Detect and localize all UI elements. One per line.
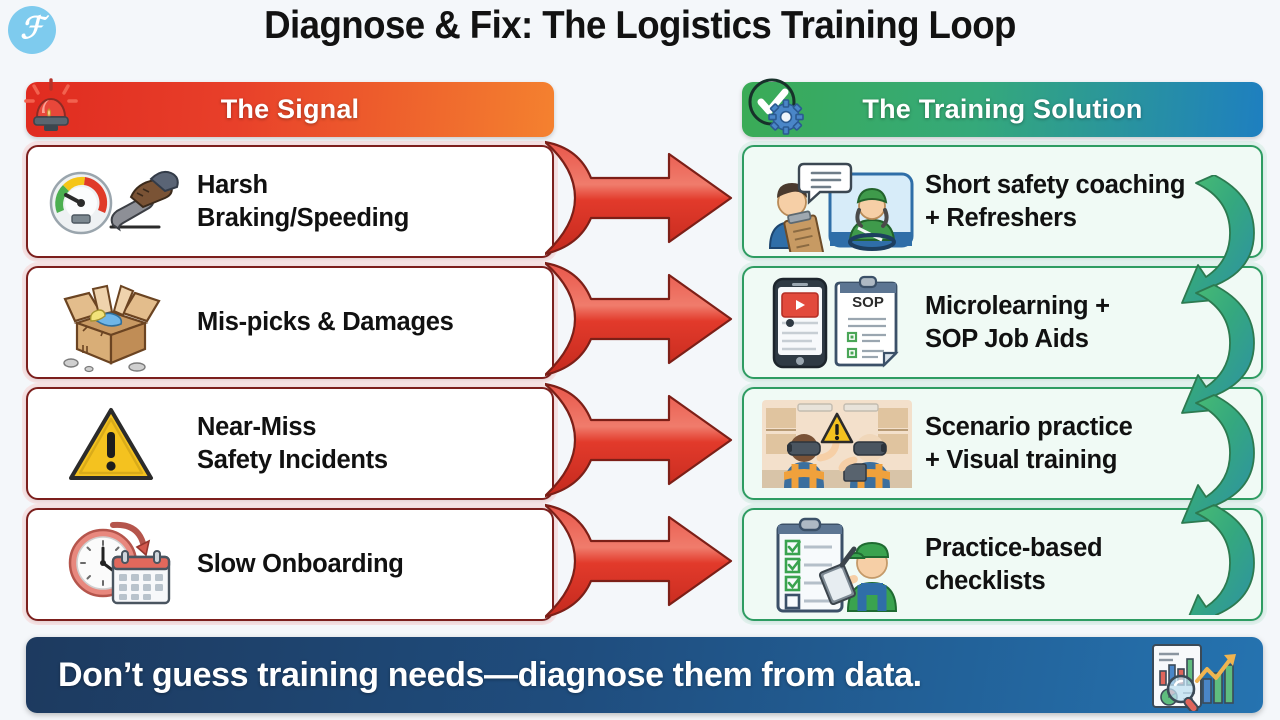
red-flow-arrow (545, 142, 731, 254)
signal-card-mis-picks[interactable]: Mis-picks & Damages (26, 266, 554, 379)
speedometer-brake-pedal-icon (28, 147, 203, 256)
red-flow-arrow-group (545, 140, 755, 635)
signal-card-label: Near-Miss Safety Incidents (197, 411, 388, 475)
solution-card-label: Scenario practice + Visual training (925, 411, 1133, 475)
red-flow-arrow (545, 263, 731, 375)
data-analysis-magnifier-icon (1147, 641, 1243, 711)
green-loop-arrow (1182, 395, 1254, 523)
coaching-driver-icon (744, 147, 929, 256)
signal-column-header: The Signal (26, 82, 554, 137)
red-flow-arrow (545, 384, 731, 496)
signal-card-harsh-braking[interactable]: Harsh Braking/Speeding (26, 145, 554, 258)
vr-warehouse-training-icon (744, 389, 929, 498)
warning-triangle-icon (28, 389, 203, 498)
police-siren-icon (12, 66, 90, 144)
signal-card-slow-onboarding[interactable]: Slow Onboarding (26, 508, 554, 621)
bottom-banner-text: Don’t guess training needs—diagnose them… (58, 656, 922, 695)
solution-column-header-label: The Training Solution (862, 94, 1142, 125)
signal-card-label: Mis-picks & Damages (197, 306, 454, 338)
signal-card-label: Slow Onboarding (197, 548, 404, 580)
check-gear-icon (738, 68, 816, 146)
damaged-open-box-icon (28, 268, 203, 377)
signal-card-near-miss[interactable]: Near-Miss Safety Incidents (26, 387, 554, 500)
solution-card-label: Microlearning + SOP Job Aids (925, 290, 1110, 354)
signal-card-label: Harsh Braking/Speeding (197, 169, 409, 233)
signal-column-header-label: The Signal (221, 94, 360, 125)
svg-text:SOP: SOP (852, 294, 884, 311)
bottom-banner: Don’t guess training needs—diagnose them… (26, 637, 1263, 713)
green-loop-arrow (1182, 175, 1254, 303)
clock-calendar-icon (28, 510, 203, 619)
phone-video-sop-clipboard-icon: SOP (744, 268, 929, 377)
green-loop-arrow-group (1160, 175, 1280, 615)
green-loop-arrow (1182, 285, 1254, 413)
solution-card-label: Short safety coaching + Refreshers (925, 169, 1185, 233)
page-title: Diagnose & Fix: The Logistics Training L… (38, 4, 1241, 48)
solution-column-header: The Training Solution (742, 82, 1263, 137)
red-flow-arrow (545, 505, 731, 617)
solution-card-label: Practice-based checklists (925, 532, 1102, 596)
checklist-worker-icon (744, 510, 929, 619)
